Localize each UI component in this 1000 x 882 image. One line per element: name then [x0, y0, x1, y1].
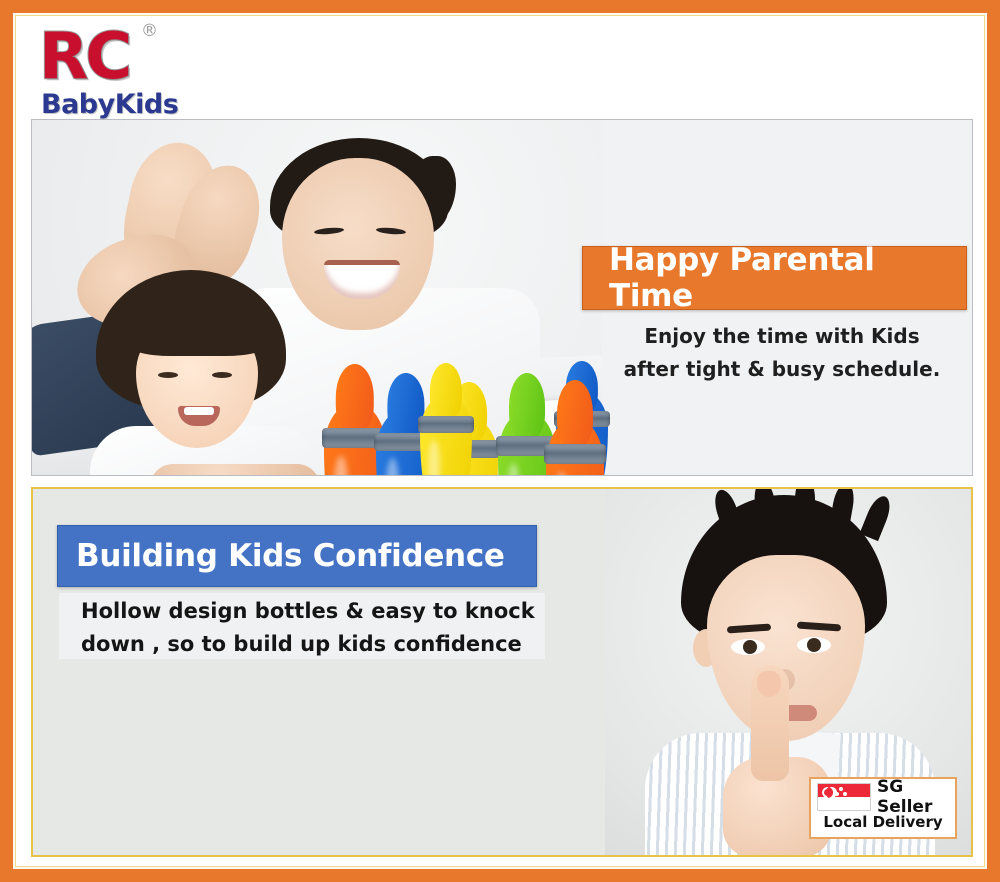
stars-icon: [835, 787, 851, 801]
subtitle-top: Enjoy the time with Kids after tight & b…: [592, 320, 972, 386]
subtitle-bottom-line1: Hollow design bottles & easy to knock: [81, 595, 545, 628]
sg-seller-badge: SG Seller Local Delivery: [809, 777, 957, 839]
pin-highlight: [555, 472, 568, 476]
local-delivery-text: Local Delivery: [817, 813, 949, 831]
pin-highlight: [334, 456, 348, 476]
boy-hair-spike: [859, 493, 894, 541]
advert-outer-frame: RC ® BabyKids: [0, 0, 1000, 882]
panel-building-kids-confidence: Building Kids Confidence Hollow design b…: [31, 487, 973, 857]
banner-title-bottom: Building Kids Confidence: [76, 538, 505, 574]
child-eye-right: [212, 372, 232, 378]
subtitle-bottom-line2: down , so to build up kids confidence: [81, 628, 545, 661]
crescent-icon: [822, 787, 833, 798]
subtitle-bottom: Hollow design bottles & easy to knock do…: [59, 593, 545, 659]
banner-title-top: Happy Parental Time: [609, 242, 966, 314]
sg-seller-title: SG Seller: [877, 777, 949, 817]
pin-highlight: [386, 458, 399, 476]
registered-trademark-icon: ®: [141, 21, 158, 41]
boy-thumbnail: [757, 671, 781, 697]
boy-pupil-left: [743, 640, 757, 654]
father-face: [282, 158, 434, 330]
advert-inner-area: RC ® BabyKids: [13, 13, 987, 869]
child-eye-left: [158, 372, 178, 378]
banner-happy-parental-time: Happy Parental Time: [582, 246, 967, 310]
child-hands: [150, 464, 320, 475]
logo-rc-text: RC: [39, 25, 129, 89]
bowling-pin: [420, 396, 472, 476]
bowling-pins-top: [320, 370, 620, 476]
boy-pupil-right: [807, 638, 821, 652]
subtitle-top-line1: Enjoy the time with Kids: [592, 320, 972, 353]
subtitle-top-line2: after tight & busy schedule.: [592, 353, 972, 386]
pin-highlight: [428, 440, 439, 476]
pin-highlight: [507, 463, 520, 476]
banner-building-kids-confidence: Building Kids Confidence: [57, 525, 537, 587]
brand-logo: RC ® BabyKids: [23, 19, 353, 119]
sg-badge-row: SG Seller: [817, 783, 949, 811]
panel-happy-parental-time: Happy Parental Time Enjoy the time with …: [31, 119, 973, 476]
logo-babykids-text: BabyKids: [41, 89, 178, 120]
singapore-flag-icon: [817, 783, 871, 811]
